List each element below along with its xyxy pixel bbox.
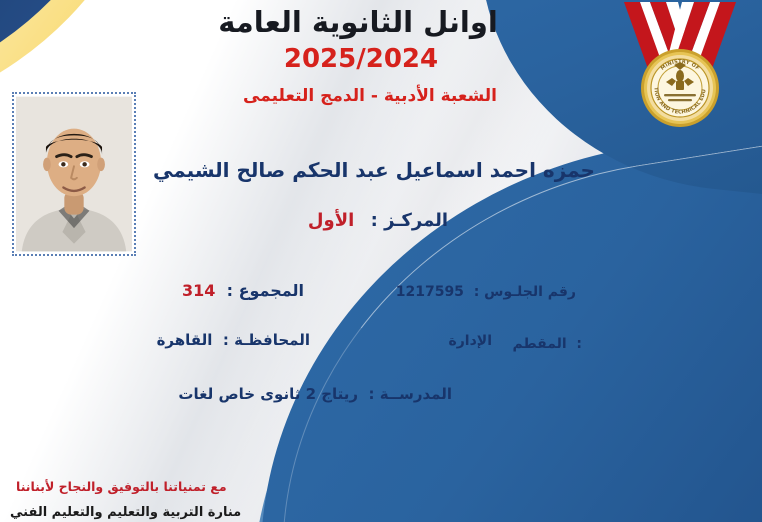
school-row: المدرســة : ريتاج 2 ثانوى خاص لغات: [178, 385, 452, 403]
governorate-value: القاهرة: [157, 331, 213, 349]
seat-label: رقم الجلـوس: [484, 284, 576, 300]
total-colon: :: [227, 281, 233, 300]
ministry-slogan: منارة التربية والتعليم والتعليم الفني: [10, 505, 241, 522]
rank-colon: :: [371, 210, 378, 231]
governorate-row: المحافظـة : القاهرة: [157, 331, 310, 349]
school-colon: :: [369, 385, 375, 403]
seat-colon: :: [474, 284, 480, 300]
rank-row: المركـز : الأول: [150, 210, 612, 231]
school-value: ريتاج 2 ثانوى خاص لغات: [178, 385, 358, 403]
rank-label: المركـز: [384, 210, 448, 231]
administration-value: المقطم: [513, 336, 567, 352]
total-label: المجموع: [239, 281, 304, 300]
total-value: 314: [182, 281, 215, 300]
seat-value: 1217595: [396, 284, 464, 300]
administration-label-wrap: الإدارة: [448, 333, 492, 349]
governorate-label: المحافظـة: [234, 331, 310, 349]
administration-colon: :: [576, 336, 582, 352]
school-label: المدرســة: [380, 385, 452, 403]
seat-number-row: رقم الجلـوس : 1217595: [396, 284, 576, 300]
rank-value: الأول: [308, 210, 354, 231]
administration-label: الإدارة: [448, 333, 492, 349]
student-photo: [12, 92, 136, 256]
governorate-colon: :: [223, 331, 229, 349]
administration-value-wrap: : المقطم: [513, 336, 583, 352]
ministry-logo: MINISTRY OF EDUCATION AND TECHNICAL EDUC…: [606, 2, 754, 130]
total-row: المجموع : 314: [182, 281, 304, 300]
certificate-card: MINISTRY OF EDUCATION AND TECHNICAL EDUC…: [0, 0, 762, 522]
congratulations-message: مع تمنياتنا بالتوفيق والنجاح لأبناننا: [16, 479, 227, 494]
